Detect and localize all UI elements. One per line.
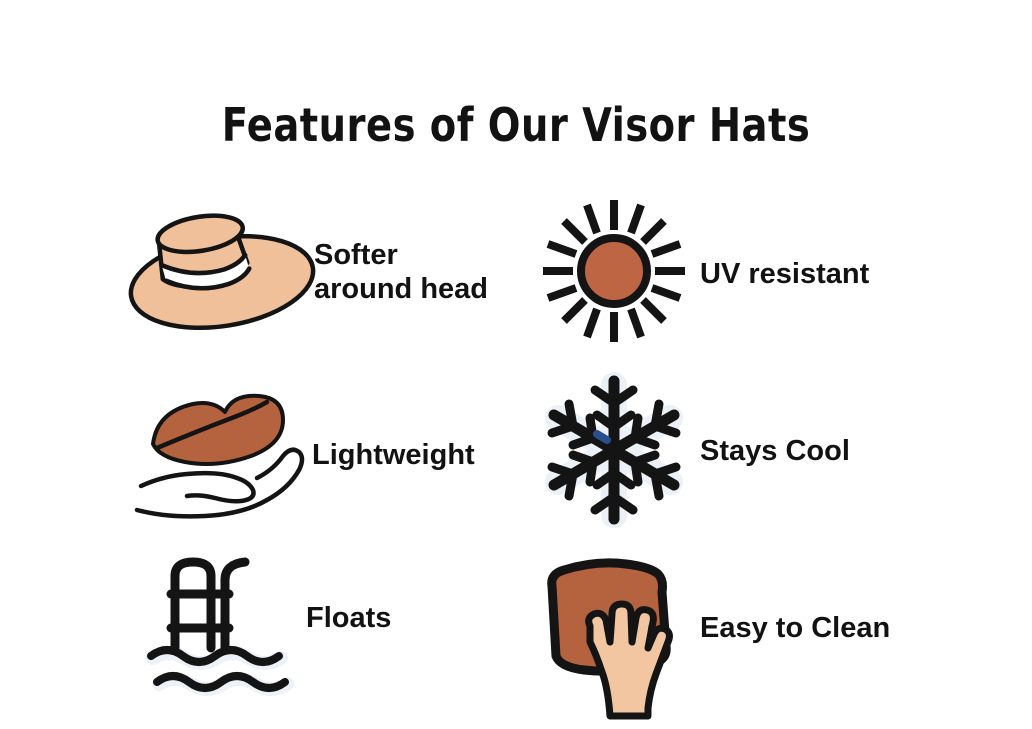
leaf-on-hand-icon [128,377,328,527]
feature-label: Softer around head [314,239,488,307]
feature-label: UV resistant [700,258,869,292]
hand-wiping-cloth-icon [531,555,696,710]
snowflake-icon [531,372,696,527]
feature-item-floats: Floats [110,536,530,709]
feature-column-left: Softer around head Lightweight [110,190,530,709]
sun-icon [531,193,696,348]
feature-item-stays-cool: Stays Cool [525,363,955,536]
feature-item-easy-to-clean: Easy to Clean [525,536,955,709]
feature-label: Floats [306,602,391,636]
sun-hat-icon [122,198,322,348]
feature-label: Lightweight [312,439,475,473]
feature-label: Easy to Clean [700,612,890,646]
feature-item-softer-around-head: Softer around head [110,190,530,363]
feature-item-lightweight: Lightweight [110,363,530,536]
feature-item-uv-resistant: UV resistant [525,190,955,363]
feature-label: Stays Cool [700,435,850,469]
page-title: Features of Our Visor Hats [36,98,996,152]
feature-column-right: UV resistant [525,190,955,709]
infographic-canvas: Features of Our Visor Hats [0,0,1032,729]
pool-ladder-water-icon [134,552,334,702]
